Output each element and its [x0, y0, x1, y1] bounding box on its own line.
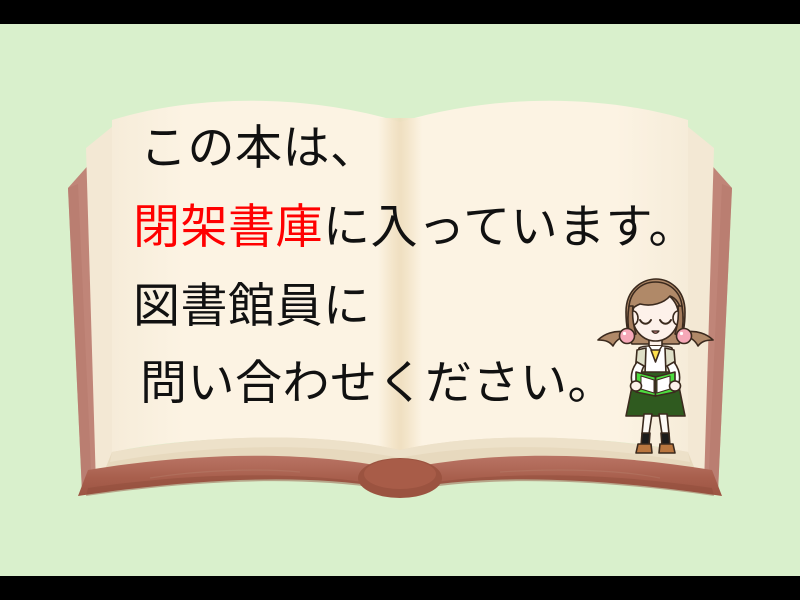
- hand-left: [631, 381, 642, 391]
- shoe-left: [636, 444, 652, 453]
- hair-tie-right: [677, 329, 692, 344]
- notice-line-3: 図書館員に: [133, 283, 371, 330]
- notice-line-2: 閉架書庫に入っています。: [133, 204, 696, 251]
- notice-line-1: この本は、: [140, 125, 378, 172]
- book-spine-knot: [358, 458, 442, 498]
- girl-reading-illustration: [596, 276, 714, 458]
- letterbox-bottom-bar: [0, 576, 800, 600]
- hand-right: [670, 381, 681, 391]
- closed-stacks-highlight: 閉架書庫: [133, 200, 323, 255]
- shoe-right: [659, 444, 675, 453]
- notice-line-2-suffix: に入っています。: [323, 200, 696, 255]
- leg-left: [642, 414, 652, 434]
- letterbox-top-bar: [0, 0, 800, 24]
- hair-tie-left: [620, 329, 635, 344]
- mouth: [652, 331, 659, 333]
- notice-line-4: 問い合わせください。: [140, 360, 615, 407]
- scene-canvas: この本は、 閉架書庫に入っています。 図書館員に 問い合わせください。: [0, 0, 800, 600]
- leg-right: [659, 414, 669, 434]
